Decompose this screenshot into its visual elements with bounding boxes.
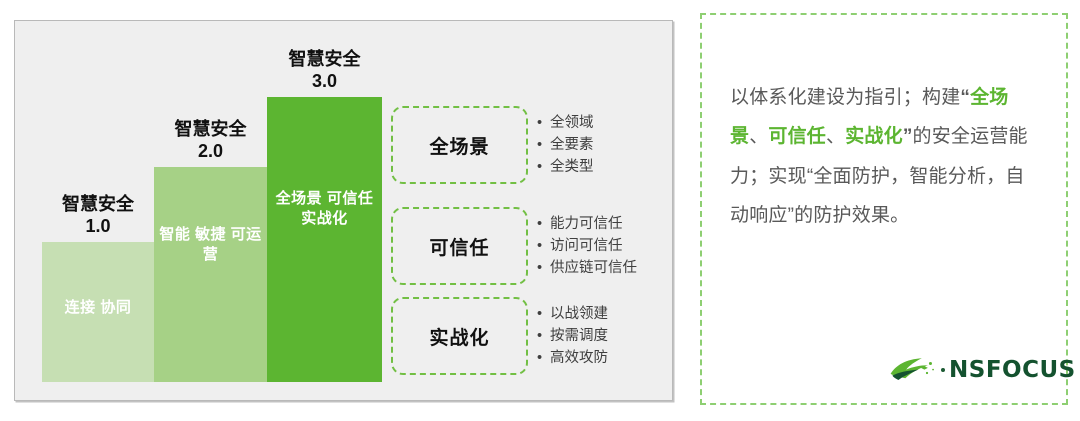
list-item: 访问可信任 (537, 235, 637, 257)
list-item: 高效攻防 (537, 347, 608, 369)
pillar-bullets-2: 能力可信任 访问可信任 供应链可信任 (537, 213, 637, 279)
bar-caption-2: 智慧安全 2.0 (132, 119, 289, 163)
pillar-box-1: 全场景 (391, 106, 528, 184)
pillar-box-3: 实战化 (391, 297, 528, 375)
list-item: 全领域 (537, 112, 594, 134)
pillar-title-2: 可信任 (429, 233, 489, 260)
pillar-box-2: 可信任 (391, 207, 528, 285)
bar-rect-3 (267, 97, 382, 382)
logo-wordmark: NSFOCUS (949, 359, 1076, 382)
nsfocus-logo: NSFOCUS (888, 351, 1056, 389)
bar-caption-3: 智慧安全 3.0 (245, 49, 404, 93)
bar-inner-label-1: 连接 协同 (42, 298, 154, 318)
nsfocus-swoosh-icon (888, 353, 940, 387)
logo-separator-dot (941, 368, 945, 372)
open-quote-1: “ (960, 87, 970, 108)
separator-1: 、 (749, 126, 768, 147)
pillar-title-3: 实战化 (429, 323, 489, 350)
close-quote-1: ” (903, 126, 913, 147)
list-item: 全要素 (537, 134, 594, 156)
highlight-kexinren: 可信任 (768, 126, 826, 147)
list-item: 按需调度 (537, 325, 608, 347)
summary-paragraph: 以体系化建设为指引；构建“全场景、可信任、实战化”的安全运营能力；实现“全面防护… (730, 78, 1042, 235)
maturity-chart-panel: 智慧安全 1.0 连接 协同 智慧安全 2.0 智能 敏捷 可运营 智慧安全 3… (14, 20, 673, 401)
bar-smart-security-1: 智慧安全 1.0 连接 协同 (42, 242, 154, 382)
highlight-shizhanhua: 实战化 (845, 126, 903, 147)
list-item: 能力可信任 (537, 213, 637, 235)
summary-part-1: 以体系化建设为指引；构建 (730, 87, 960, 108)
bar-caption-1: 智慧安全 1.0 (20, 194, 176, 238)
bar-inner-label-2: 智能 敏捷 可运营 (154, 225, 267, 265)
pillar-bullets-1: 全领域 全要素 全类型 (537, 112, 594, 178)
separator-2: 、 (826, 126, 845, 147)
bar-smart-security-2: 智慧安全 2.0 智能 敏捷 可运营 (154, 167, 267, 382)
list-item: 以战领建 (537, 303, 608, 325)
pillar-bullets-3: 以战领建 按需调度 高效攻防 (537, 303, 608, 369)
bar-inner-label-3: 全场景 可信任 实战化 (267, 189, 382, 229)
pillar-title-1: 全场景 (429, 132, 489, 159)
list-item: 全类型 (537, 156, 594, 178)
summary-part-4: 的防护效果。 (794, 205, 909, 226)
bar-smart-security-3: 智慧安全 3.0 全场景 可信任 实战化 (267, 97, 382, 382)
list-item: 供应链可信任 (537, 257, 637, 279)
summary-panel: 以体系化建设为指引；构建“全场景、可信任、实战化”的安全运营能力；实现“全面防护… (700, 13, 1068, 405)
bar-rect-2 (154, 167, 267, 382)
